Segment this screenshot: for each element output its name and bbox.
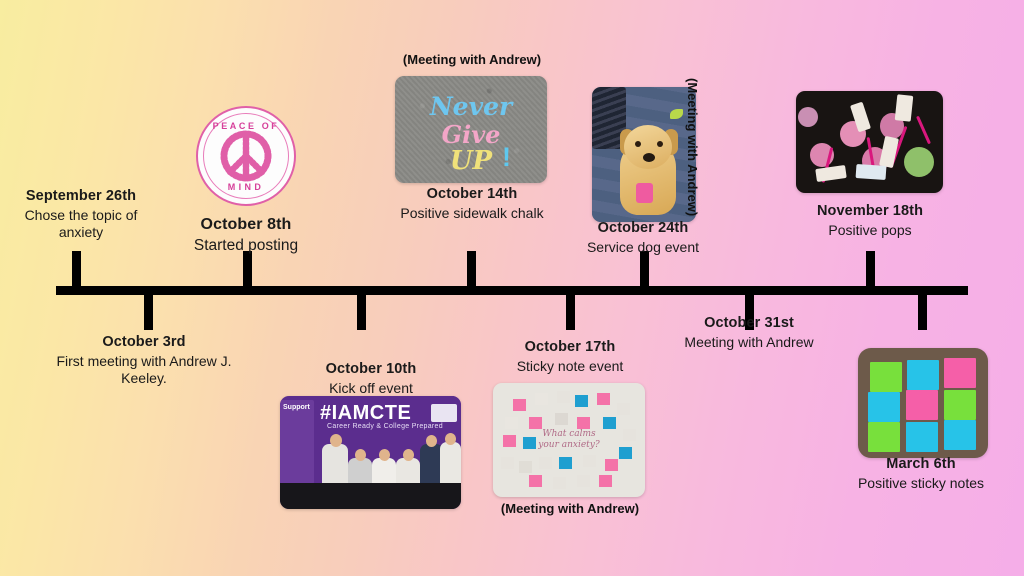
- event-desc: Meeting with Andrew: [660, 334, 838, 351]
- tick-oct8: [243, 251, 252, 291]
- wall-note: [623, 429, 636, 441]
- event-date: October 3rd: [42, 334, 246, 351]
- dog-nose: [643, 153, 655, 162]
- wall-note: [603, 417, 616, 429]
- positive-pops-photo: [796, 91, 943, 193]
- student-5-head: [426, 435, 437, 447]
- grid-note: [868, 422, 900, 452]
- wall-note: [575, 395, 588, 407]
- grid-note: [907, 360, 939, 390]
- chalk-word-up: UP: [395, 146, 547, 176]
- grid-note: [868, 392, 900, 422]
- tick-oct17: [566, 290, 575, 330]
- student-6-head: [445, 433, 456, 445]
- wall-note: [617, 403, 630, 415]
- dog-meeting-annotation: (Meeting with Andrew): [685, 78, 700, 216]
- wall-question-line1: What calms: [542, 429, 595, 439]
- event-date: October 31st: [660, 315, 838, 332]
- pop-6: [798, 107, 818, 127]
- kick-off-event-photo: #IAMCTE Career Ready & College Prepared …: [280, 396, 461, 509]
- timeline-infographic: PEACE OF MIND (Meeting with Andrew) Neve…: [0, 0, 1024, 576]
- event-label-sep26: September 26th Chose the topic of anxiet…: [6, 188, 156, 240]
- wall-note: [597, 393, 610, 405]
- event-label-nov18: November 18th Positive pops: [792, 203, 948, 239]
- event-label-oct3: October 3rd First meeting with Andrew J.…: [42, 334, 246, 386]
- wall-note: [555, 413, 568, 425]
- wall-note: [559, 457, 572, 469]
- event-table: [280, 483, 461, 509]
- wall-note: [505, 417, 518, 429]
- event-desc: Started posting: [170, 237, 322, 255]
- event-date: October 17th: [490, 339, 650, 356]
- dog-eye-left: [635, 141, 641, 147]
- service-dog-photo: [592, 87, 696, 222]
- wall-note: [583, 455, 596, 467]
- wall-note: [577, 475, 590, 487]
- banner-subtitle: Career Ready & College Prepared: [327, 423, 443, 430]
- tick-mar6: [918, 290, 927, 330]
- wall-note: [577, 417, 590, 429]
- chalk-word-give: Give: [395, 120, 547, 149]
- event-date: November 18th: [792, 203, 948, 220]
- tick-sep26: [72, 251, 81, 291]
- tick-oct14: [467, 251, 476, 291]
- ribbon-4: [916, 116, 931, 145]
- event-label-oct24: October 24th Service dog event: [562, 220, 724, 256]
- event-label-mar6: March 6th Positive sticky notes: [842, 456, 1000, 492]
- chalk-exclamation: !: [502, 142, 511, 173]
- grid-note: [906, 422, 938, 452]
- wall-note: [605, 459, 618, 471]
- event-date: September 26th: [6, 188, 156, 205]
- student-3-head: [379, 449, 390, 461]
- tick-oct10: [357, 290, 366, 330]
- dog-vest: [636, 183, 653, 203]
- positive-sticky-notes-photo: [858, 348, 988, 458]
- grid-note: [906, 390, 938, 420]
- event-desc: Service dog event: [562, 239, 724, 256]
- event-desc: Sticky note event: [490, 358, 650, 375]
- sticky-meeting-annotation: (Meeting with Andrew): [490, 501, 650, 516]
- tag-2: [879, 136, 899, 168]
- wall-note: [519, 461, 532, 473]
- tag-5: [856, 164, 887, 180]
- tag-4: [815, 165, 847, 182]
- student-2-head: [355, 449, 366, 461]
- wall-note: [535, 393, 548, 405]
- event-label-oct31: October 31st Meeting with Andrew: [660, 315, 838, 351]
- event-desc: First meeting with Andrew J. Keeley.: [42, 353, 246, 386]
- support-poster: [280, 400, 314, 484]
- chalk-word-never: Never: [395, 92, 547, 121]
- grid-note: [944, 358, 976, 388]
- support-poster-label: Support: [283, 404, 310, 411]
- pop-3: [904, 147, 934, 177]
- wall-note: [529, 475, 542, 487]
- event-label-oct8: October 8th Started posting: [170, 216, 322, 255]
- wall-note: [513, 399, 526, 411]
- wall-note: [553, 477, 566, 489]
- event-date: October 8th: [170, 216, 322, 235]
- event-date: October 14th: [396, 186, 548, 203]
- student-4-head: [403, 449, 414, 461]
- wall-note: [557, 391, 570, 403]
- wall-note: [501, 457, 514, 469]
- tick-oct24: [640, 251, 649, 291]
- dog-head: [624, 125, 672, 169]
- chalk-meeting-annotation: (Meeting with Andrew): [394, 52, 550, 67]
- banner-hashtag: #IAMCTE: [320, 402, 411, 425]
- timeline-axis: [56, 286, 968, 295]
- tick-nov18: [866, 251, 875, 291]
- event-label-oct10: October 10th Kick off event: [290, 361, 452, 397]
- banner-logo: [431, 404, 457, 422]
- logo-text-bottom: MIND: [198, 182, 294, 192]
- wall-question-line2: your anxiety?: [538, 440, 599, 450]
- wall-note: [599, 475, 612, 487]
- event-label-oct14: October 14th Positive sidewalk chalk: [396, 186, 548, 222]
- grid-note: [944, 390, 976, 420]
- grid-note: [870, 362, 902, 392]
- wall-note: [539, 457, 552, 469]
- tag-3: [895, 94, 914, 122]
- wall-question: What calms your anxiety?: [517, 429, 621, 452]
- event-date: October 10th: [290, 361, 452, 378]
- tick-oct3: [144, 290, 153, 330]
- event-date: October 24th: [562, 220, 724, 237]
- wall-note: [529, 417, 542, 429]
- wall-note: [503, 435, 516, 447]
- event-desc: Positive sidewalk chalk: [396, 205, 548, 222]
- event-date: March 6th: [842, 456, 1000, 473]
- grid-note: [944, 420, 976, 450]
- event-desc: Positive sticky notes: [842, 475, 1000, 492]
- event-desc: Kick off event: [290, 380, 452, 397]
- peace-sign-icon: [220, 130, 272, 182]
- event-label-oct17: October 17th Sticky note event: [490, 339, 650, 375]
- peace-of-mind-logo: PEACE OF MIND: [196, 106, 296, 206]
- event-desc: Chose the topic of anxiety: [6, 207, 156, 240]
- sidewalk-chalk-photo: Never Give UP !: [395, 76, 547, 183]
- event-desc: Positive pops: [792, 222, 948, 239]
- student-1-head: [330, 434, 342, 447]
- sticky-note-wall-photo: What calms your anxiety?: [493, 383, 645, 497]
- dog-eye-right: [657, 141, 663, 147]
